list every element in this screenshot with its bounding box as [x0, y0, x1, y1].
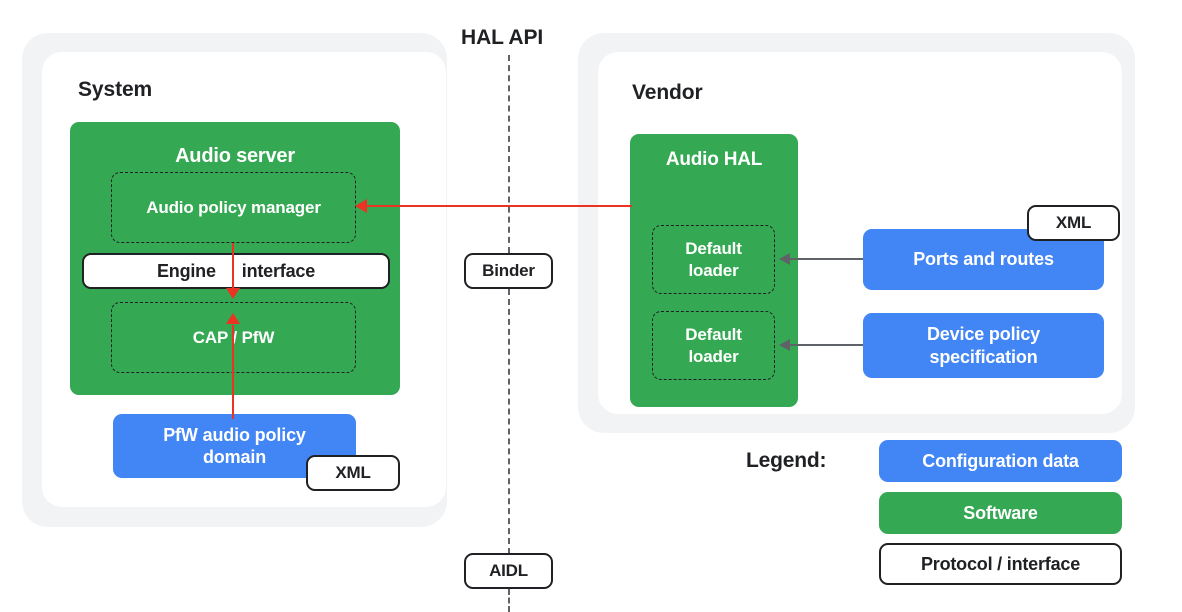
hal-api-title: HAL API	[461, 26, 543, 50]
default-loader-bottom-line2: loader	[688, 346, 738, 367]
hal-divider-segment-top	[508, 55, 510, 253]
audio-hal-title: Audio HAL	[630, 149, 798, 171]
hal-divider-segment-bottom	[508, 589, 510, 612]
arrow-ports-to-loader-head	[779, 253, 790, 265]
audio-server-title: Audio server	[70, 145, 400, 168]
arrow-policy-to-cap-line	[232, 243, 234, 292]
legend-item-configuration-data: Configuration data	[879, 440, 1122, 482]
default-loader-top-line1: Default	[685, 238, 742, 259]
arrow-pfw-to-cap-head	[226, 313, 240, 324]
device-policy-specification-line1: Device policy	[927, 323, 1040, 346]
default-loader-bottom-line1: Default	[685, 324, 742, 345]
pfw-audio-policy-domain-line2: domain	[203, 446, 266, 469]
pfw-audio-policy-domain-line1: PfW audio policy	[163, 424, 306, 447]
legend-item-software: Software	[879, 492, 1122, 534]
xml-badge-vendor[interactable]: XML	[1027, 205, 1120, 241]
audio-policy-manager-label: Audio policy manager	[146, 197, 321, 218]
engine-interface-left-label: Engine	[157, 261, 216, 282]
default-loader-top-line2: loader	[688, 260, 738, 281]
arrow-devicepolicy-to-loader-head	[779, 339, 790, 351]
binder-badge[interactable]: Binder	[464, 253, 553, 289]
device-policy-specification-box[interactable]: Device policy specification	[863, 313, 1104, 378]
engine-interface-right-label: interface	[242, 261, 315, 282]
default-loader-bottom-box[interactable]: Default loader	[652, 311, 775, 380]
arrow-hal-to-policy-manager-head	[355, 199, 367, 213]
arrow-ports-to-loader-line	[789, 258, 863, 260]
arrow-pfw-to-cap-line	[232, 325, 234, 419]
arrow-devicepolicy-to-loader-line	[789, 344, 863, 346]
diagram-canvas: HAL API System Audio server Audio policy…	[0, 0, 1182, 612]
default-loader-top-box[interactable]: Default loader	[652, 225, 775, 294]
device-policy-specification-line2: specification	[929, 346, 1037, 369]
legend-title: Legend:	[746, 449, 826, 473]
engine-interface-box[interactable]: Engine interface	[82, 253, 390, 289]
arrow-hal-to-policy-manager-line	[366, 205, 632, 207]
arrow-policy-to-cap-head	[226, 288, 240, 299]
legend-item-protocol-interface: Protocol / interface	[879, 543, 1122, 585]
xml-badge-system[interactable]: XML	[306, 455, 400, 491]
aidl-badge[interactable]: AIDL	[464, 553, 553, 589]
audio-policy-manager-box[interactable]: Audio policy manager	[111, 172, 356, 243]
hal-divider-segment-middle	[508, 289, 510, 554]
system-title: System	[78, 78, 152, 102]
vendor-title: Vendor	[632, 81, 703, 105]
